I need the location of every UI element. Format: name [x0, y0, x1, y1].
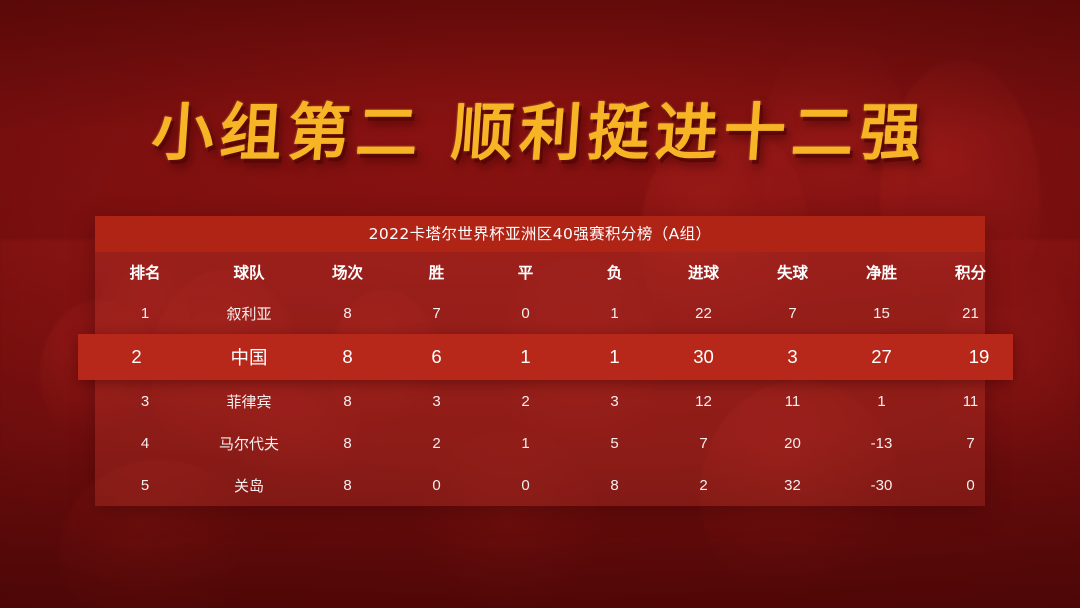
table-row-highlighted: 2 中国 8 6 1 1 30 3 27 19 — [78, 334, 1013, 380]
cell-played: 8 — [303, 393, 392, 410]
cell-points: 0 — [926, 477, 1015, 494]
standings-table-body: 排名 球队 场次 胜 平 负 进球 失球 净胜 积分 1 叙利亚 8 7 0 1… — [95, 252, 985, 506]
cell-loss: 5 — [570, 435, 659, 452]
cell-rank: 5 — [95, 477, 195, 494]
cell-points: 19 — [926, 346, 1032, 368]
cell-draw: 0 — [481, 477, 570, 494]
cell-team: 中国 — [195, 344, 303, 370]
cell-loss: 1 — [570, 346, 659, 368]
cell-goal-diff: -13 — [837, 435, 926, 452]
cell-played: 8 — [303, 435, 392, 452]
cell-draw: 1 — [481, 346, 570, 368]
cell-win: 2 — [392, 435, 481, 452]
cell-team: 叙利亚 — [195, 303, 303, 324]
column-header-played: 场次 — [303, 261, 392, 283]
cell-goal-diff: -30 — [837, 477, 926, 494]
column-header-goals-for: 进球 — [659, 261, 748, 283]
cell-win: 7 — [392, 305, 481, 322]
column-header-draw: 平 — [481, 261, 570, 283]
column-header-loss: 负 — [570, 261, 659, 283]
cell-rank: 2 — [78, 346, 195, 368]
cell-goals-for: 22 — [659, 305, 748, 322]
cell-team: 菲律宾 — [195, 391, 303, 412]
standings-table: 2022卡塔尔世界杯亚洲区40强赛积分榜（A组） 排名 球队 场次 胜 平 负 … — [95, 216, 985, 506]
column-header-team: 球队 — [195, 261, 303, 283]
cell-points: 7 — [926, 435, 1015, 452]
cell-goals-against: 20 — [748, 435, 837, 452]
cell-goals-for: 30 — [659, 346, 748, 368]
standings-table-caption: 2022卡塔尔世界杯亚洲区40强赛积分榜（A组） — [95, 216, 985, 252]
table-row: 3 菲律宾 8 3 2 3 12 11 1 11 — [95, 380, 985, 422]
column-header-goals-against: 失球 — [748, 261, 837, 283]
cell-win: 0 — [392, 477, 481, 494]
cell-goals-for: 7 — [659, 435, 748, 452]
cell-points: 21 — [926, 305, 1015, 322]
table-row: 4 马尔代夫 8 2 1 5 7 20 -13 7 — [95, 422, 985, 464]
cell-win: 6 — [392, 346, 481, 368]
cell-points: 11 — [926, 393, 1015, 410]
cell-goals-for: 2 — [659, 477, 748, 494]
table-row: 1 叙利亚 8 7 0 1 22 7 15 21 — [95, 292, 985, 334]
table-row: 5 关岛 8 0 0 8 2 32 -30 0 — [95, 464, 985, 506]
cell-team: 关岛 — [195, 475, 303, 496]
table-header-row: 排名 球队 场次 胜 平 负 进球 失球 净胜 积分 — [95, 252, 985, 292]
cell-rank: 4 — [95, 435, 195, 452]
cell-goals-for: 12 — [659, 393, 748, 410]
cell-goals-against: 11 — [748, 393, 837, 410]
cell-played: 8 — [303, 477, 392, 494]
cell-rank: 3 — [95, 393, 195, 410]
cell-played: 8 — [303, 305, 392, 322]
cell-draw: 0 — [481, 305, 570, 322]
column-header-points: 积分 — [926, 261, 1015, 283]
cell-draw: 1 — [481, 435, 570, 452]
cell-played: 8 — [303, 346, 392, 368]
slide-canvas: 小组第二 顺利挺进十二强 2022卡塔尔世界杯亚洲区40强赛积分榜（A组） 排名… — [0, 0, 1080, 608]
cell-goal-diff: 1 — [837, 393, 926, 410]
cell-rank: 1 — [95, 305, 195, 322]
cell-loss: 8 — [570, 477, 659, 494]
cell-goals-against: 7 — [748, 305, 837, 322]
cell-goals-against: 32 — [748, 477, 837, 494]
column-header-rank: 排名 — [95, 261, 195, 283]
cell-goal-diff: 15 — [837, 305, 926, 322]
column-header-win: 胜 — [392, 261, 481, 283]
cell-team: 马尔代夫 — [195, 433, 303, 454]
cell-goals-against: 3 — [748, 346, 837, 368]
cell-win: 3 — [392, 393, 481, 410]
cell-loss: 3 — [570, 393, 659, 410]
column-header-goal-diff: 净胜 — [837, 261, 926, 283]
cell-goal-diff: 27 — [837, 346, 926, 368]
cell-loss: 1 — [570, 305, 659, 322]
cell-draw: 2 — [481, 393, 570, 410]
